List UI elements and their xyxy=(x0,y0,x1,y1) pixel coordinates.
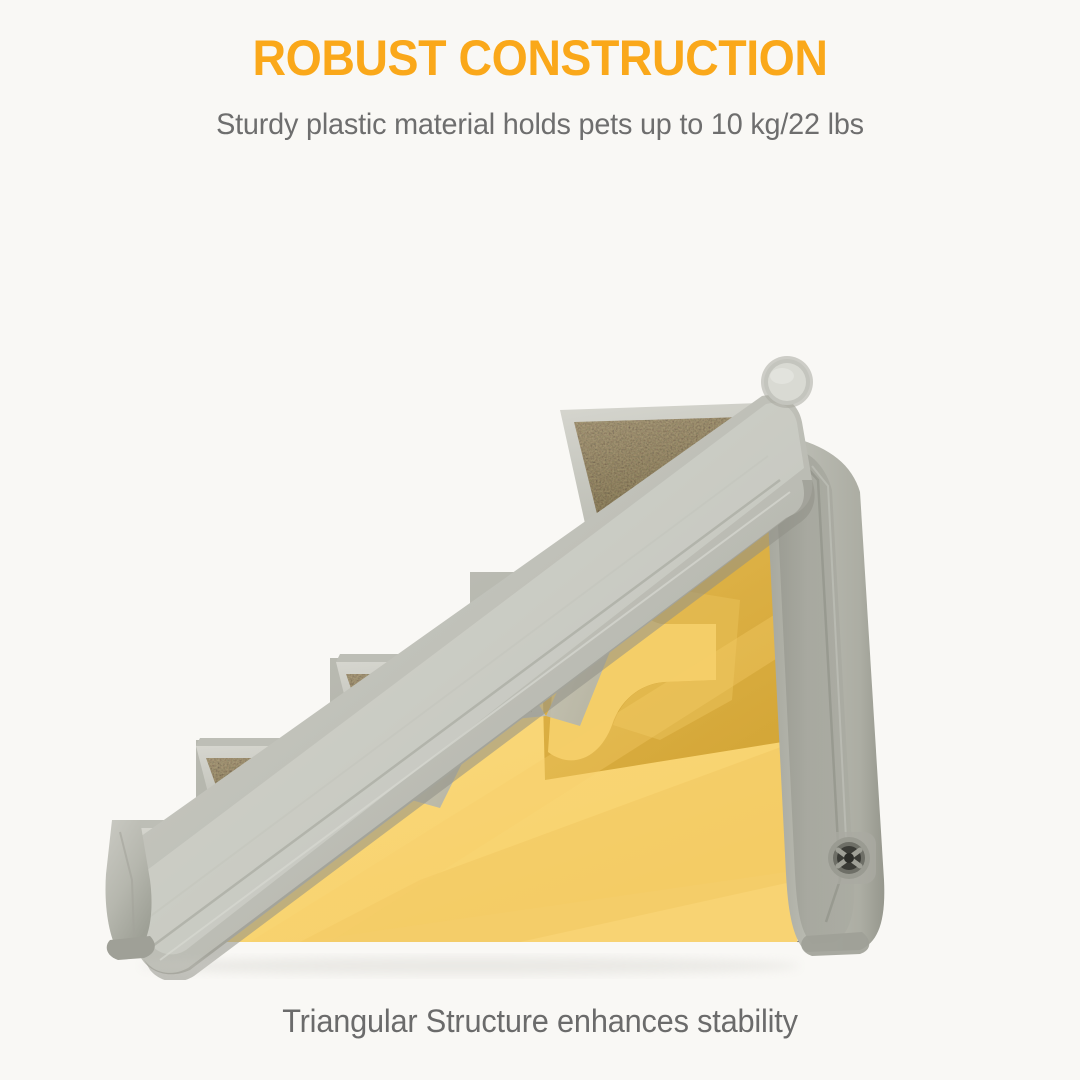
pet-stairs-illustration xyxy=(0,180,1080,980)
page-title: ROBUST CONSTRUCTION xyxy=(38,32,1042,85)
product-photo xyxy=(0,180,1080,980)
marketing-banner: ROBUST CONSTRUCTION Sturdy plastic mater… xyxy=(0,0,1080,1080)
page-subtitle: Sturdy plastic material holds pets up to… xyxy=(22,108,1059,142)
round-cap-button xyxy=(761,356,813,408)
hinge-screw-icon xyxy=(822,832,876,884)
feature-caption: Triangular Structure enhances stability xyxy=(22,1003,1059,1040)
